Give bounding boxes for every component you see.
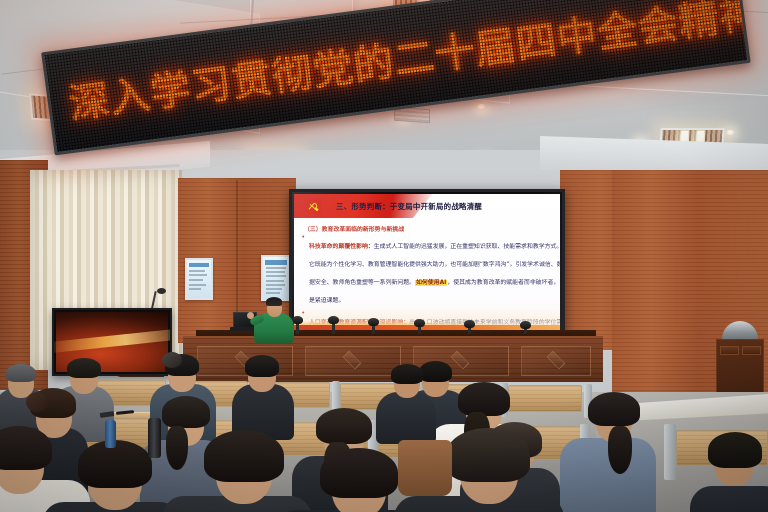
notice-board-left [185,258,213,300]
microphone-head-icon [464,320,475,328]
party-emblem-icon [306,199,321,214]
slide-title: 三、形势判断：于变局中开新局的战略清醒 [336,201,482,212]
slide-bullet-highlight: 如何使用AI [415,280,447,286]
water-bottle [105,420,116,448]
ceiling-downlight [477,104,486,109]
microphone-head-icon [368,318,379,326]
microphone-head-icon [520,321,531,329]
presenter-hand [247,312,254,319]
presenter-hair [266,297,282,306]
slide-bullet-lead: 科技革命的颠覆性影响： [309,244,374,250]
slide-bullet: 科技革命的颠覆性影响：生成式人工智能的迅猛发展，正在重塑知识获取、技能需求和教学… [302,235,560,307]
handbag [398,440,452,496]
presentation-slide: 三、形势判断：于变局中开新局的战略清醒 （三）教育改革面临的新形势与新挑战 科技… [294,194,560,334]
slide-subtitle: （三）教育改革面临的新形势与新挑战 [304,224,404,233]
microphone-head-icon [328,316,339,324]
auditorium-seat[interactable] [508,385,582,412]
seat-divider [664,424,676,480]
water-bottle [148,418,161,458]
notice-board-right [261,255,291,301]
conference-hall-photo: 三、形势判断：于变局中开新局的战略清醒 （三）教育改革面临的新形势与新挑战 科技… [0,0,768,512]
ceiling-downlight [726,130,735,135]
microphone-head-icon [292,316,303,324]
podium-microphone-icon [157,288,166,294]
microphone-head-icon [414,319,425,327]
